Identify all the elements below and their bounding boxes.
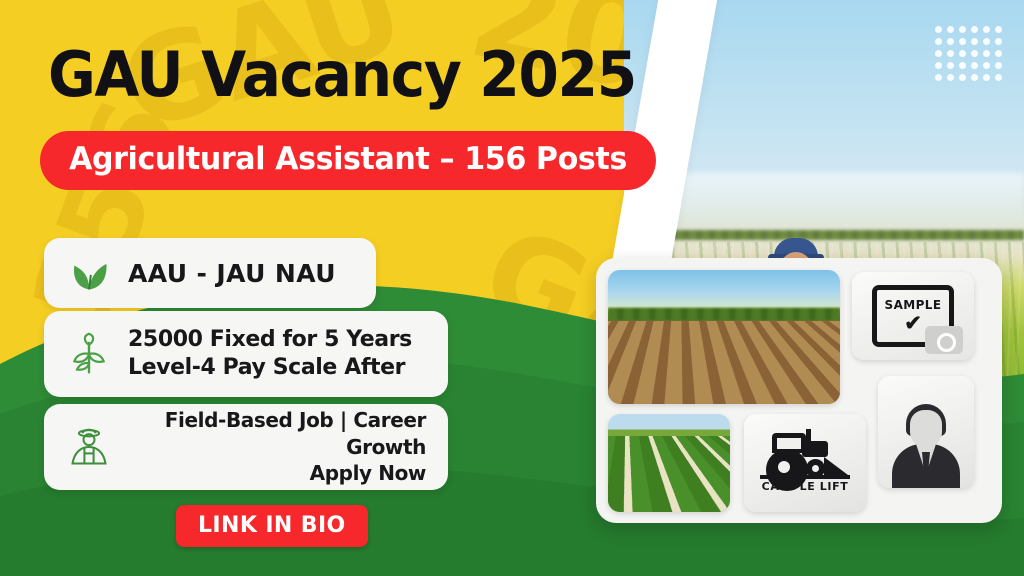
info-card-text: Field-Based Job | Career Growth Apply No… — [128, 407, 426, 486]
info-card-job-type: Field-Based Job | Career Growth Apply No… — [44, 404, 448, 490]
person-avatar-card — [878, 376, 974, 488]
dot-grid-decoration — [935, 26, 1002, 81]
farmer-icon — [66, 424, 112, 470]
plow-rows — [608, 321, 840, 404]
link-in-bio-button[interactable]: LINK IN BIO — [176, 505, 368, 547]
checkmark-icon: ✔ — [904, 313, 922, 334]
sample-check-icon: SAMPLE ✔ — [872, 285, 954, 347]
poster-canvas: GAU 2025 156 JOB GAU 2025 156 JOB — [0, 0, 1024, 576]
info-card-universities: AAU - JAU NAU — [44, 238, 376, 308]
seal-badge-icon — [925, 326, 963, 354]
leaf-icon — [66, 250, 112, 296]
page-title: GAU Vacancy 2025 — [48, 42, 636, 108]
info-card-line-2: Apply Now — [128, 460, 426, 486]
sprout-icon — [66, 331, 112, 377]
collage-panel: SAMPLE ✔ CAMPLE LIFT — [596, 258, 1002, 523]
plowed-field-photo — [608, 270, 840, 404]
sample-label: SAMPLE — [885, 299, 942, 311]
subtitle-badge: Agricultural Assistant – 156 Posts — [40, 131, 656, 190]
info-card-label: AAU - JAU NAU — [128, 259, 336, 288]
info-card-text: 25000 Fixed for 5 Years Level-4 Pay Scal… — [128, 326, 412, 382]
info-card-line-2: Level-4 Pay Scale After — [128, 354, 412, 382]
tractor-icon — [762, 433, 848, 477]
tractor-card: CAMPLE LIFT — [744, 414, 866, 512]
info-card-line-1: 25000 Fixed for 5 Years — [128, 326, 412, 354]
crop-stripes — [608, 436, 730, 512]
person-avatar-icon — [890, 402, 962, 488]
green-striped-field-photo — [608, 414, 730, 512]
treeline — [608, 308, 840, 320]
sample-check-card: SAMPLE ✔ — [852, 272, 974, 360]
info-card-salary: 25000 Fixed for 5 Years Level-4 Pay Scal… — [44, 311, 448, 397]
info-card-line-1: Field-Based Job | Career Growth — [165, 408, 426, 458]
